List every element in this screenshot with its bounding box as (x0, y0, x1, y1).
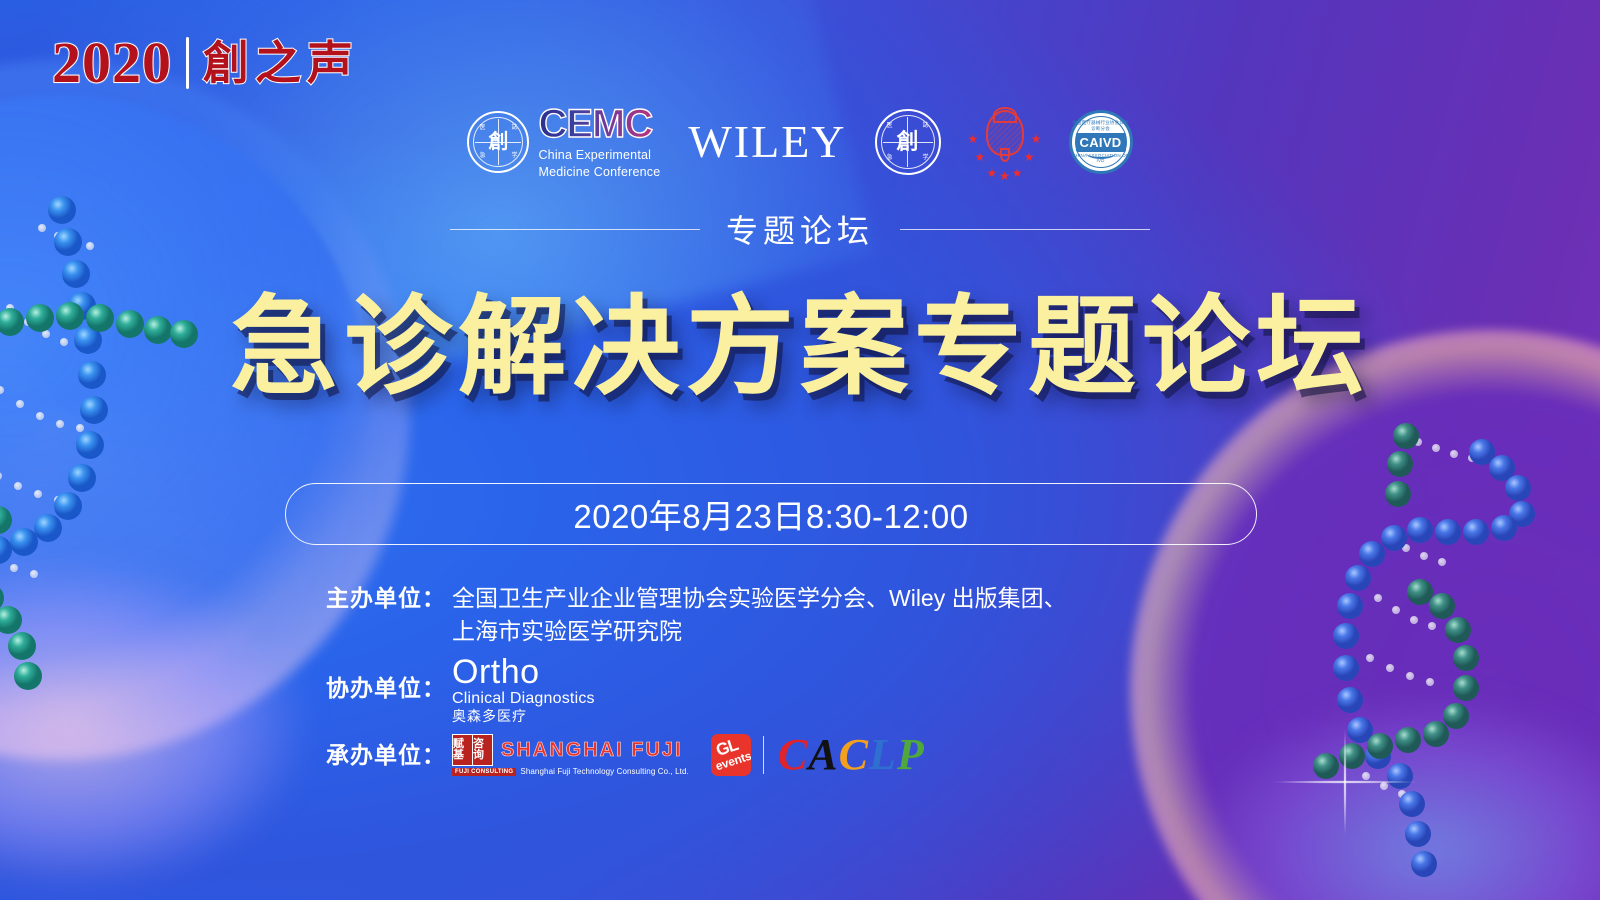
fuji-mark-right: 咨询 (473, 735, 492, 765)
host-line2: 上海市实验医学研究院 (452, 615, 1067, 648)
caclp-letter-1: A (808, 733, 838, 777)
undertaker-row: 承办单位： 赋基 咨询 SHANGHAI FUJI FUJI CONSULTIN… (300, 733, 1300, 777)
poster-canvas: 2020 創之声 医 誌 急 学 創 CEMC China Experiment… (0, 0, 1600, 900)
chuang-seal-micro-1: 医 (887, 123, 893, 129)
cemc-subtitle-line2: Medicine Conference (538, 164, 660, 181)
chuang-seal-char: 創 (895, 131, 921, 153)
ortho-brand: Ortho (452, 655, 595, 691)
cemc-seal-micro-3: 急 (479, 153, 485, 159)
fuji-name: SHANGHAI FUJI (495, 734, 683, 766)
cemc-seal-char: 創 (486, 132, 510, 152)
gl-events-logo: GL events (711, 734, 751, 776)
year-logo-year: 2020 (52, 34, 172, 92)
host-row: 主办单位： 全国卫生产业企业管理协会实验医学分会、Wiley 出版集团、 上海市… (300, 582, 1300, 649)
organizer-block: 主办单位： 全国卫生产业企业管理协会实验医学分会、Wiley 出版集团、 上海市… (300, 582, 1300, 783)
cemc-subtitle-line1: China Experimental (538, 147, 660, 164)
caivd-arc-top: 中国医疗器械行业协会体外诊断分会 (1072, 120, 1130, 132)
cemc-seal-micro-2: 誌 (511, 125, 517, 131)
ortho-logo: Ortho Clinical Diagnostics 奥森多医疗 (452, 655, 595, 724)
caivd-arc-bottom: CHINA ASSOCIATION OF IVD (1072, 153, 1130, 163)
dna-helix-left (0, 90, 260, 790)
caclp-letter-2: C (839, 733, 869, 777)
chuang-seal-micro-4: 学 (923, 155, 929, 161)
host-line1: 全国卫生产业企业管理协会实验医学分会、Wiley 出版集团、 (452, 582, 1067, 615)
host-value: 全国卫生产业企业管理协会实验医学分会、Wiley 出版集团、 上海市实验医学研究… (452, 582, 1067, 649)
cemc-acronym: CEMC (538, 104, 660, 144)
section-label: 专题论坛 (0, 206, 1600, 252)
caivd-acronym: CAIVD (1076, 133, 1126, 152)
wiley-logo: WILEY (688, 119, 846, 165)
section-label-rule-right (900, 229, 1150, 230)
caclp-letter-3: L (869, 733, 897, 777)
section-label-text: 专题论坛 (726, 206, 874, 252)
pcfh-emblem-icon: ★★ ★★ ★★ ★ (969, 106, 1041, 178)
undertaker-label: 承办单位： (300, 739, 452, 772)
fuji-tag: FUJI CONSULTING (452, 768, 516, 776)
dna-helix-right (1260, 420, 1560, 890)
year-logo-cn: 創之声 (203, 40, 359, 86)
date-banner: 2020年8月23日8:30-12:00 (285, 483, 1257, 545)
cemc-seal-micro-1: 医 (479, 125, 485, 131)
host-label: 主办单位： (300, 582, 452, 615)
ortho-brand-sub: Clinical Diagnostics (452, 691, 595, 707)
coorganizer-label: 协办单位： (300, 672, 452, 705)
page-title: 急诊解决方案专题论坛 (0, 288, 1600, 407)
chuang-seal-micro-2: 誌 (923, 123, 929, 129)
ortho-brand-cn: 奥森多医疗 (452, 709, 595, 723)
section-label-rule-left (450, 229, 700, 230)
caclp-logo: CACLP (778, 733, 925, 777)
glow-bottom-left (0, 560, 310, 890)
cemc-seal-icon: 医 誌 急 学 創 (467, 111, 529, 173)
caclp-letter-4: P (897, 733, 925, 777)
logo-divider (763, 736, 764, 774)
year-logo: 2020 創之声 (52, 34, 359, 92)
cemc-logo: 医 誌 急 学 創 CEMC China Experimental Medici… (467, 104, 660, 181)
fuji-mark-left: 赋基 (453, 735, 472, 765)
fuji-seal-icon: 赋基 咨询 (452, 734, 493, 766)
caclp-letter-0: C (778, 733, 808, 777)
partner-logo-row: 医 誌 急 学 創 CEMC China Experimental Medici… (0, 104, 1600, 181)
fuji-en: Shanghai Fuji Technology Consulting Co.,… (520, 767, 688, 776)
chuang-seal-icon: 医 誌 急 学 創 (875, 109, 941, 175)
year-logo-divider (186, 37, 189, 89)
caivd-logo-icon: 中国医疗器械行业协会体外诊断分会 CAIVD CHINA ASSOCIATION… (1069, 110, 1133, 174)
coorganizer-row: 协办单位： Ortho Clinical Diagnostics 奥森多医疗 (300, 655, 1300, 724)
shanghai-fuji-logo: 赋基 咨询 SHANGHAI FUJI FUJI CONSULTING Shan… (452, 734, 689, 776)
chuang-seal-micro-3: 急 (887, 155, 893, 161)
cemc-seal-micro-4: 学 (511, 153, 517, 159)
date-text: 2020年8月23日8:30-12:00 (573, 490, 968, 538)
